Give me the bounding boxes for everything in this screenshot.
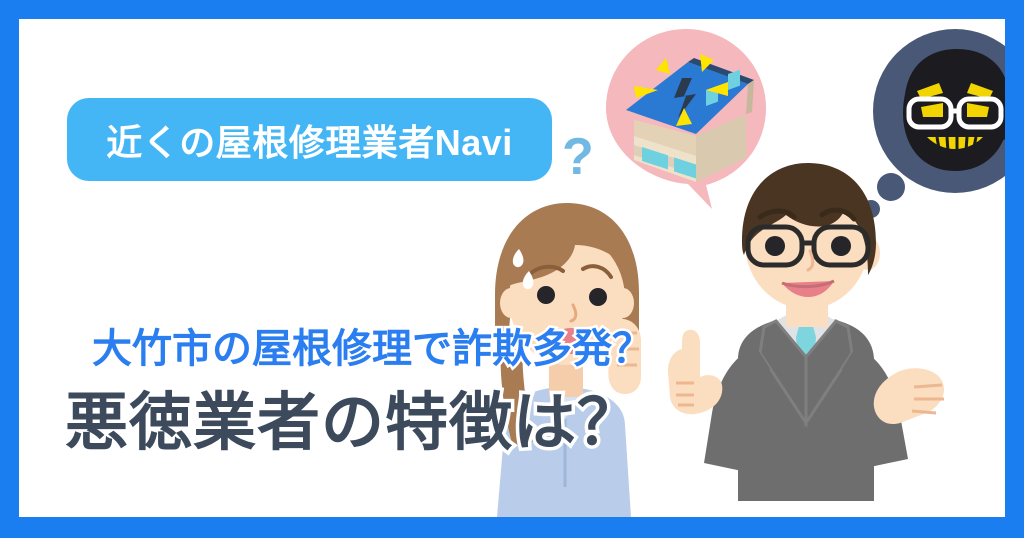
site-badge-label: 近くの屋根修理業者Navi [106, 114, 513, 166]
pointing-businessman [664, 171, 949, 517]
inner-white-card: 近くの屋根修理業者Navi ? 大竹市の屋根修理で詐欺多発？ 悪徳業者の特徴は？ [19, 19, 1005, 517]
headline-subtitle: 大竹市の屋根修理で詐欺多発？ [92, 316, 652, 374]
question-mark-decor: ? [562, 131, 594, 183]
headline-title: 悪徳業者の特徴は？ [65, 372, 641, 463]
villain-face-illustration [903, 49, 1005, 171]
thumbnail-canvas: 近くの屋根修理業者Navi ? 大竹市の屋根修理で詐欺多発？ 悪徳業者の特徴は？ [0, 0, 1024, 538]
site-badge[interactable]: 近くの屋根修理業者Navi [67, 98, 552, 181]
man-pointing-hand [668, 330, 722, 414]
